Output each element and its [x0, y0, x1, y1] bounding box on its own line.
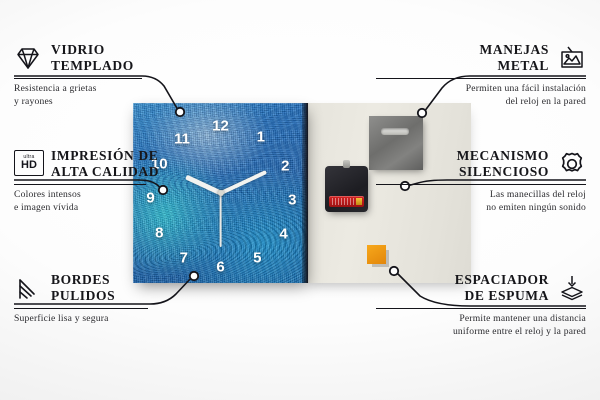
feature-manejas-metal[interactable]: MANEJAS METAL Permiten una fácil instala…	[376, 42, 586, 109]
feature-mecanismo-silencioso[interactable]: MECANISMO SILENCIOSO Las manecillas del …	[376, 148, 586, 215]
feature-subtitle-line1: Permiten una fácil instalación	[376, 83, 586, 96]
feature-header: ultra HD IMPRESIÓN DE ALTA CALIDAD	[14, 148, 224, 180]
infographic-canvas: 12 1 2 3 4 5 6 7 8 9 10 11	[0, 0, 600, 400]
feature-rule	[376, 308, 586, 310]
feature-bordes-pulidos[interactable]: BORDES PULIDOS Superficie lisa y segura	[14, 272, 224, 326]
gear-icon	[558, 150, 586, 178]
feature-header: MECANISMO SILENCIOSO	[376, 148, 586, 180]
feature-subtitle-line1: Superficie lisa y segura	[14, 313, 224, 326]
feature-rule	[376, 184, 586, 186]
feature-header: ESPACIADOR DE ESPUMA	[376, 272, 586, 304]
feature-subtitle-line2: uniforme entre el reloj y la pared	[376, 326, 586, 339]
feature-subtitle-line1: Permite mantener una distancia	[376, 313, 586, 326]
feature-title: IMPRESIÓN DE ALTA CALIDAD	[51, 148, 159, 180]
feature-subtitle-line2: del reloj en la pared	[376, 96, 586, 109]
hd-label: HD	[21, 160, 37, 171]
foam-spacer-icon	[558, 274, 586, 302]
feature-rule	[376, 78, 586, 80]
feature-subtitle-line1: Las manecillas del reloj	[376, 189, 586, 202]
node-manejas	[418, 109, 426, 117]
feature-espaciador-de-espuma[interactable]: ESPACIADOR DE ESPUMA Permite mantener un…	[376, 272, 586, 339]
diamond-icon	[14, 44, 42, 72]
feature-title: MANEJAS METAL	[480, 42, 549, 74]
feature-subtitle-line2: y rayones	[14, 96, 224, 109]
feature-header: VIDRIO TEMPLADO	[14, 42, 224, 74]
feature-impresion-alta-calidad[interactable]: ultra HD IMPRESIÓN DE ALTA CALIDAD Color…	[14, 148, 224, 215]
feature-title: MECANISMO SILENCIOSO	[457, 148, 549, 180]
feature-header: MANEJAS METAL	[376, 42, 586, 74]
ultra-hd-icon: ultra HD	[14, 150, 42, 178]
feature-title: BORDES PULIDOS	[51, 272, 115, 304]
feature-rule	[14, 308, 148, 310]
picture-hanger-icon	[558, 44, 586, 72]
feature-subtitle-line1: Resistencia a grietas	[14, 83, 224, 96]
feature-subtitle-line1: Colores intensos	[14, 189, 224, 202]
feature-subtitle-line2: e imagen vívida	[14, 202, 224, 215]
feature-header: BORDES PULIDOS	[14, 272, 224, 304]
feature-rule	[14, 78, 142, 80]
feature-title: VIDRIO TEMPLADO	[51, 42, 134, 74]
feature-title: ESPACIADOR DE ESPUMA	[455, 272, 549, 304]
feature-rule	[14, 184, 146, 186]
feature-subtitle-line2: no emiten ningún sonido	[376, 202, 586, 215]
polished-edges-icon	[14, 274, 42, 302]
feature-vidrio-templado[interactable]: VIDRIO TEMPLADO Resistencia a grietas y …	[14, 42, 224, 109]
